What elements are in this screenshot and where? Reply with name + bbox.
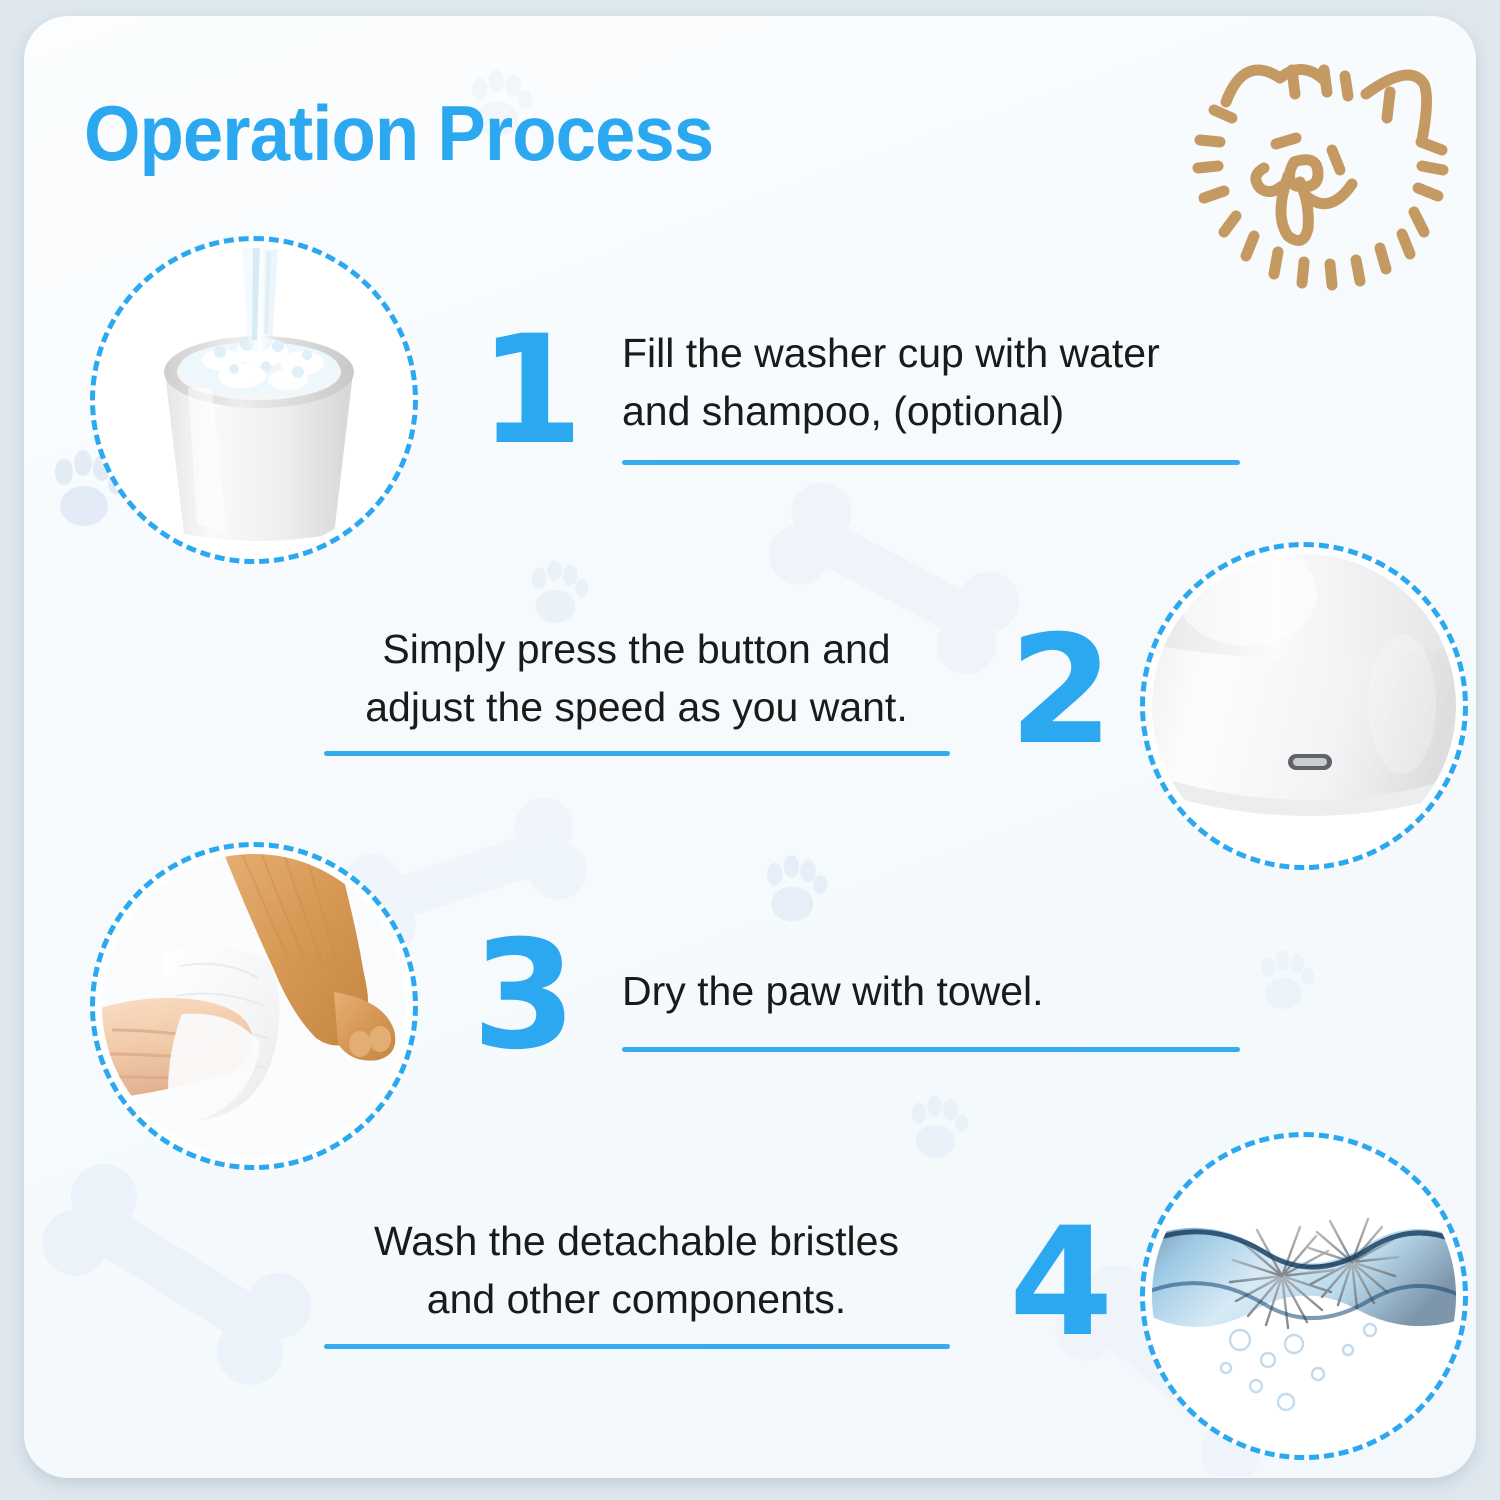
step-3-photo: [90, 842, 418, 1170]
step-1-underline: [622, 460, 1240, 465]
step-4-photo: [1140, 1132, 1468, 1460]
step-2-underline: [324, 751, 950, 756]
step-3-number: 3: [472, 921, 576, 1071]
step-4-underline: [324, 1344, 950, 1349]
step-3-text: Dry the paw with towel.: [622, 962, 1262, 1020]
paw-print-watermark: [759, 851, 829, 929]
step-3-underline: [622, 1047, 1240, 1052]
paw-print-watermark: [904, 1091, 970, 1165]
step-1-number: 1: [479, 316, 583, 466]
step-1-photo: [90, 236, 418, 564]
step-2-text: Simply press the button and adjust the s…: [324, 620, 949, 736]
page-title: Operation Process: [84, 94, 713, 172]
step-4-text: Wash the detachable bristles and other c…: [324, 1212, 949, 1328]
bone-watermark: [24, 1156, 344, 1386]
dog-face-line-art-icon: [1184, 36, 1476, 316]
washer-cup-filling-with-water-photo: [102, 248, 406, 552]
content-card: Operation Process: [24, 16, 1476, 1478]
step-2-number: 2: [1009, 616, 1113, 766]
paw-print-watermark: [1254, 946, 1316, 1016]
infographic-root: Operation Process: [0, 0, 1500, 1500]
washer-device-body-photo: [1152, 554, 1456, 858]
step-2-photo: [1140, 542, 1468, 870]
bristles-in-water-photo: [1152, 1144, 1456, 1448]
drying-paw-with-towel-photo: [102, 854, 406, 1158]
step-1-text: Fill the washer cup with water and shamp…: [622, 324, 1262, 440]
step-4-number: 4: [1009, 1208, 1113, 1358]
paw-print-watermark: [524, 556, 590, 630]
